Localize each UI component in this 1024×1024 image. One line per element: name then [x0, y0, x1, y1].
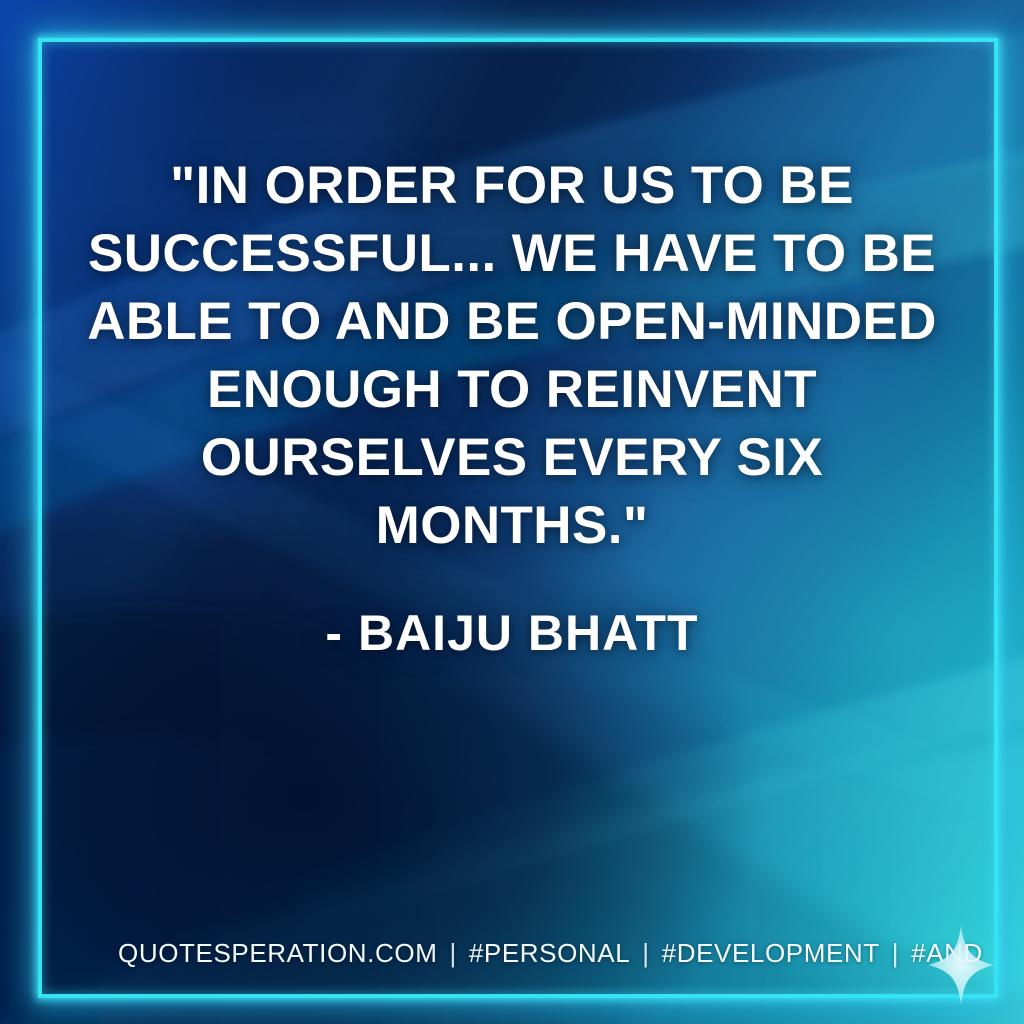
footer-tag-development[interactable]: #DEVELOPMENT: [662, 938, 880, 969]
footer-site-name[interactable]: QUOTESPERATION.COM: [118, 938, 437, 969]
sparkle-icon: [928, 925, 994, 1005]
quote-text: "IN ORDER FOR US TO BE SUCCESSFUL... WE …: [82, 152, 942, 560]
footer-separator-1: |: [447, 938, 458, 969]
footer-tag-personal[interactable]: #PERSONAL: [469, 938, 630, 969]
quote-content: "IN ORDER FOR US TO BE SUCCESSFUL... WE …: [0, 0, 1024, 1024]
quote-poster: "IN ORDER FOR US TO BE SUCCESSFUL... WE …: [0, 0, 1024, 1024]
footer-bar: QUOTESPERATION.COM | #PERSONAL | #DEVELO…: [118, 938, 983, 969]
footer-separator-3: |: [890, 938, 901, 969]
quote-attribution: - BAIJU BHATT: [82, 604, 942, 662]
footer-separator-2: |: [640, 938, 651, 969]
